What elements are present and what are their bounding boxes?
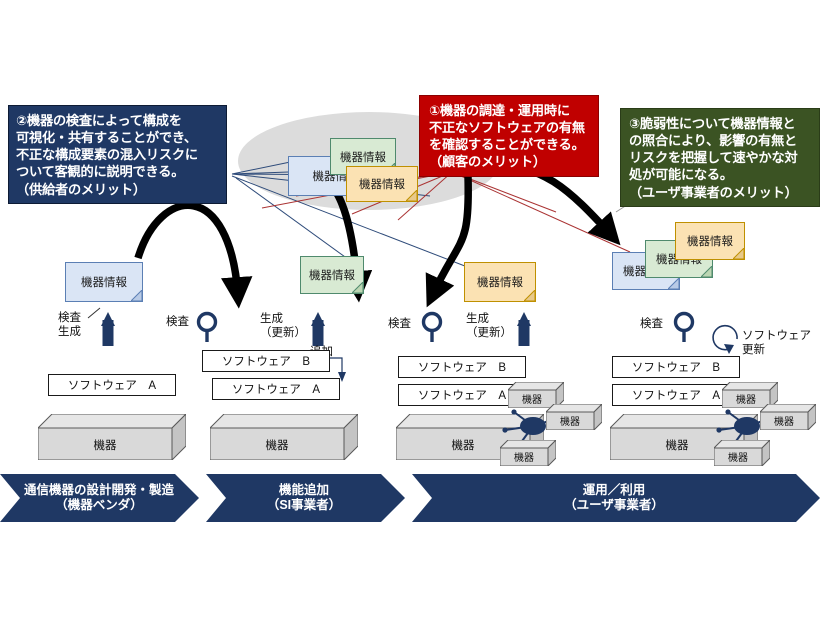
card-fold-icon [668,278,679,289]
col-si-arrows [0,0,826,620]
col-operation-note-card: 機器情報 [464,262,536,302]
refresh-icon [713,326,737,354]
col-operation-generate-label: 生成 （更新） [466,313,512,340]
col-si-note-card: 機器情報 [300,256,364,294]
svg-text:機器: 機器 [452,438,475,452]
col-si-software-a: ソフトウェア A [212,378,340,400]
thick-flow-arrows-layer [0,0,826,620]
col-operation-node-3: 機器 [500,440,556,466]
col-operation-software-b: ソフトウェア B [398,356,526,378]
timeline-chevrons [0,0,826,620]
col-vendor-software-a: ソフトウェア A [48,374,176,396]
svg-text:機器: 機器 [728,451,748,464]
col-user-node-3: 機器 [714,440,770,466]
search-icon [199,314,216,343]
col-user-inspect-label: 検査 [640,318,663,332]
svg-text:機器: 機器 [736,393,756,406]
search-icon [424,314,441,343]
col-user-note-card-yellow: 機器情報 [675,222,745,260]
svg-text:機器: 機器 [666,438,689,452]
flow-arrow-to-vendor [138,205,238,296]
col-user-network [0,0,826,620]
col-si-device: 機器 [210,414,358,460]
col-user-software-b: ソフトウェア B [612,356,740,378]
svg-text:機器: 機器 [774,415,794,428]
col-vendor-note-label: 機器情報 [81,274,127,290]
col-operation-software-b-label: ソフトウェア B [418,359,506,375]
svg-text:機器: 機器 [94,438,117,452]
col-operation-software-a: ソフトウェア A [398,384,526,406]
device-3d-shape: 機器 [714,440,770,466]
col-user-update-label: ソフトウェア 更新 [742,330,811,357]
card-fold-icon [352,282,363,293]
svg-text:機器: 機器 [514,451,534,464]
col-si-note-label: 機器情報 [309,267,355,283]
cluster-card-yellow: 機器情報 [346,166,418,202]
col-operation-software-a-label: ソフトウェア A [418,387,506,403]
col-si-magnifier [0,0,826,620]
device-3d-shape: 機器 [500,440,556,466]
device-3d-shape: 機器 [38,414,186,460]
card-fold-icon [406,190,417,201]
svg-text:機器: 機器 [560,415,580,428]
col-vendor-arrows [0,0,826,620]
callout-user-operator-merit: ③脆弱性について機器情報と の照合により、影響の有無と リスクを把握して速やかな… [620,108,820,207]
cluster-card-green-label: 機器情報 [340,149,386,165]
device-3d-shape: 機器 [546,404,602,430]
col-si-generate-label: 生成 （更新） [260,313,306,340]
cluster-card-yellow-label: 機器情報 [359,176,405,192]
svg-text:機器: 機器 [266,438,289,452]
col-operation-arrow [0,0,826,620]
card-fold-icon [131,290,142,301]
col-operation-network [0,0,826,620]
timeline-label-vendor: 通信機器の設計開発・製造 （機器ベンダ） [8,474,190,522]
card-fold-icon [701,266,712,277]
device-3d-shape: 機器 [760,404,816,430]
card-fold-icon [524,290,535,301]
col-user-note-yellow-label: 機器情報 [687,233,733,249]
connector-lines-layer [0,0,826,620]
timeline-label-operation: 運用／利用 （ユーザ事業者） [424,474,804,522]
col-si-software-b-label: ソフトウェア B [222,353,310,369]
timeline-label-si: 機能追加 （SI事業者） [216,474,392,522]
device-3d-shape: 機器 [210,414,358,460]
col-si-software-a-label: ソフトウェア A [232,381,320,397]
col-operation-magnifier [0,0,826,620]
diagram-canvas: ②機器の検査によって構成を 可視化・共有することができ、 不正な構成要素の混入リ… [0,0,826,620]
card-fold-icon [733,248,744,259]
col-operation-note-label: 機器情報 [477,274,523,290]
col-user-software-a: ソフトウェア A [612,384,740,406]
callout-supplier-merit: ②機器の検査によって構成を 可視化・共有することができ、 不正な構成要素の混入リ… [8,105,227,204]
col-si-inspect-label: 検査 [166,316,189,330]
col-user-magnifier [0,0,826,620]
col-vendor-device: 機器 [38,414,186,460]
col-operation-inspect-label: 検査 [388,318,411,332]
col-user-software-b-label: ソフトウェア B [632,359,720,375]
col-vendor-software-a-label: ソフトウェア A [68,377,156,393]
search-icon [676,314,693,343]
col-user-software-a-label: ソフトウェア A [632,387,720,403]
flow-arrow-to-user [487,167,612,236]
col-vendor-note-card: 機器情報 [65,262,143,302]
col-vendor-inspect-label: 検査 生成 [58,312,81,339]
col-si-software-b: ソフトウェア B [202,350,330,372]
col-operation-node-2: 機器 [546,404,602,430]
callout-customer-merit: ①機器の調達・運用時に 不正なソフトウェアの有無 を確認することができる。 （顧… [419,95,599,177]
svg-text:機器: 機器 [522,393,542,406]
col-user-node-2: 機器 [760,404,816,430]
